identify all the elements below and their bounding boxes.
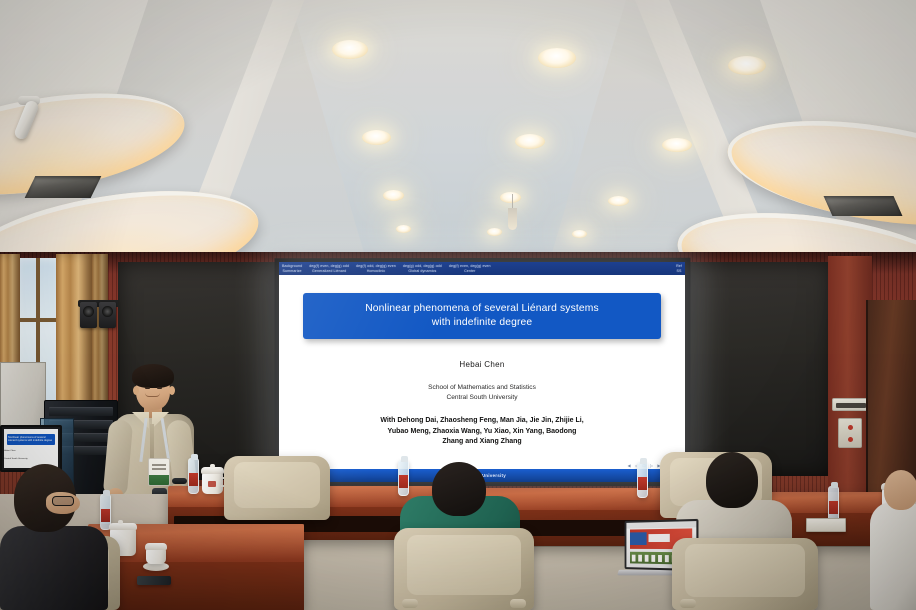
slide-collaborators-line1: With Dehong Dai, Zhaosheng Feng, Man Jia… [301, 416, 663, 426]
ceiling-downlight [362, 130, 391, 145]
chair-right[interactable] [672, 538, 818, 610]
presenter-mouth [145, 393, 160, 397]
ceiling-downlight [500, 192, 521, 203]
ceiling-downlight [487, 228, 502, 236]
presenter-name-badge [148, 458, 170, 486]
wall-switch-panel[interactable] [838, 418, 862, 448]
presenter-eye [145, 387, 150, 389]
ceiling-downlight [662, 138, 692, 152]
chair-center[interactable] [394, 528, 534, 610]
attendee-far-right-hand [884, 470, 916, 510]
presenter-hair [132, 364, 174, 388]
ceiling-downlight [728, 56, 766, 75]
phone-on-desk[interactable] [137, 576, 171, 585]
conference-room-photo: BackgroundSummarize deg(f) even, deg(g) … [0, 0, 916, 610]
ceiling-downlight [383, 190, 404, 201]
acoustic-panel-right [672, 262, 832, 476]
ceiling [0, 0, 916, 268]
presenter-shirt-placket [150, 424, 154, 458]
slide-nav-item: deg(f) even, deg(g) oddGeneralized Liéna… [309, 264, 349, 272]
presenter-ear [133, 386, 139, 395]
slide-collaborators-line3: Zhang and Xiang Zhang [301, 437, 663, 447]
tea-cup-lid[interactable] [146, 548, 166, 564]
ceiling-downlight [572, 230, 587, 238]
wall-speaker [80, 302, 97, 328]
presenter-eye [157, 387, 162, 389]
projection-screen: BackgroundSummarize deg(f) even, deg(g) … [279, 262, 685, 482]
slide-nav-item: BackgroundSummarize [282, 264, 302, 272]
slide-navigation-bar: BackgroundSummarize deg(f) even, deg(g) … [279, 262, 685, 275]
hvac-vent [25, 176, 102, 198]
presenter-watch [172, 478, 187, 484]
slide-affiliation-line2: Central South University [293, 393, 671, 403]
slide-nav-item: deg(f) even, deg(g) evenCenter [449, 264, 491, 272]
ceiling-downlight [396, 225, 411, 233]
slide-nav-item: deg(f) odd, deg(g) evenHomoclinic [356, 264, 396, 272]
presenter-ear [169, 386, 175, 395]
slide-content: Nonlinear phenomena of several Liénard s… [279, 275, 685, 469]
tea-cup[interactable] [202, 472, 223, 494]
attendee-front-left-body [0, 526, 108, 610]
chair-mid-left[interactable] [224, 456, 330, 520]
attendee-center-head [432, 462, 486, 516]
slide-title-line2: with indefinite degree [311, 316, 653, 330]
slide-author: Hebai Chen [293, 360, 671, 369]
slide-title-line1: Nonlinear phenomena of several Liénard s… [311, 302, 653, 316]
ceiling-downlight [538, 48, 576, 68]
slide-nav-item: deg(g) odd, deg(g) oddGlobal dynamics [403, 264, 442, 272]
confidence-monitor-affiliation: Central South University [4, 458, 58, 461]
ceiling-downlight [608, 196, 629, 206]
slide-nav-item: RefSS [676, 264, 682, 272]
slide-affiliation-line1: School of Mathematics and Statistics [293, 383, 671, 393]
confidence-monitor-title: Nonlinear phenomena of several Liénard s… [7, 434, 55, 445]
attendee-front-left-glasses [52, 496, 74, 506]
name-plate [806, 518, 846, 532]
confidence-monitor-author: Hebai Chen [4, 450, 58, 453]
slide-title-box: Nonlinear phenomena of several Liénard s… [303, 293, 661, 339]
ceiling-pendant-sensor [508, 208, 517, 230]
slide-collaborators-line2: Yubao Meng, Zhaoxia Wang, Yu Xiao, Xin Y… [301, 427, 663, 437]
water-bottle[interactable] [188, 458, 199, 494]
hvac-vent [824, 196, 903, 216]
water-bottle[interactable] [637, 462, 648, 498]
ceiling-downlight [515, 134, 545, 149]
water-bottle[interactable] [398, 460, 409, 496]
wall-data-plate[interactable] [832, 398, 870, 411]
wall-speaker [99, 302, 116, 328]
attendee-far-right-body [870, 502, 916, 610]
attendee-right-head [706, 452, 758, 508]
ceiling-downlight [332, 40, 368, 59]
water-bottle[interactable] [828, 486, 839, 522]
